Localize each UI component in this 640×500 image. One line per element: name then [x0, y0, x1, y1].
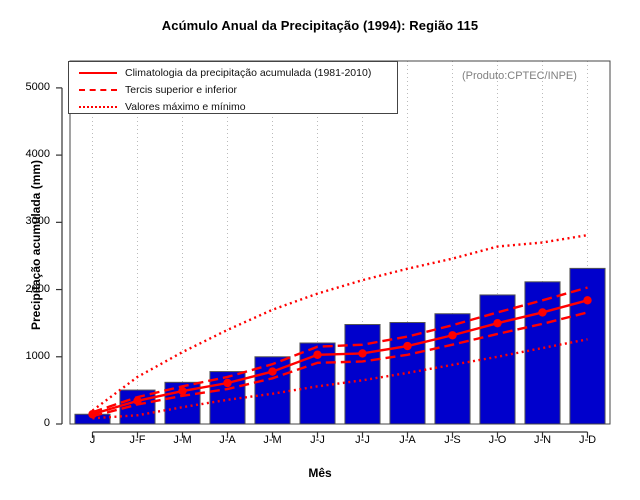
data-point-marker [448, 331, 456, 339]
x-axis-tick-label: J-J [295, 434, 341, 446]
x-axis-tick-label: J-A [205, 434, 251, 446]
x-axis-tick-label: J-D [565, 434, 611, 446]
data-point-marker [223, 379, 231, 387]
y-axis-tick-label: 1000 [6, 350, 50, 362]
data-point-marker [358, 349, 366, 357]
legend-label: Climatologia da precipitação acumulada (… [125, 67, 371, 79]
legend-line-dashed-icon [79, 89, 117, 91]
x-axis-tick-label: J [70, 434, 116, 446]
x-axis-tick-label: J-F [115, 434, 161, 446]
data-point-marker [493, 319, 501, 327]
y-axis-tick-label: 0 [6, 417, 50, 429]
x-axis-tick-label: J-A [385, 434, 431, 446]
chart-container: Acúmulo Anual da Precipitação (1994): Re… [0, 0, 640, 500]
produto-annotation: (Produto:CPTEC/INPE) [462, 70, 577, 82]
x-axis-tick-label: J-M [160, 434, 206, 446]
legend-line-dotted-icon [79, 106, 117, 108]
legend-item-climatologia: Climatologia da precipitação acumulada (… [69, 65, 397, 81]
x-axis-label: Mês [0, 466, 640, 480]
y-axis-label: Precipitação acumulada (mm) [29, 55, 43, 435]
bar [345, 325, 380, 424]
legend-label: Tercis superior e inferior [125, 84, 237, 96]
data-point-marker [538, 308, 546, 316]
bar [390, 322, 425, 424]
y-axis-tick-label: 5000 [6, 81, 50, 93]
y-axis-tick-label: 3000 [6, 215, 50, 227]
legend-label: Valores máximo e mínimo [125, 101, 246, 113]
x-axis-tick-label: J-S [430, 434, 476, 446]
bar [435, 314, 470, 424]
x-axis-tick-label: J-M [250, 434, 296, 446]
x-axis-tick-label: J-J [340, 434, 386, 446]
data-point-marker [403, 342, 411, 350]
legend-item-tercis: Tercis superior e inferior [69, 82, 397, 98]
data-point-marker [313, 351, 321, 359]
x-axis-tick-label: J-O [475, 434, 521, 446]
x-axis-tick-label: J-N [520, 434, 566, 446]
data-point-marker [583, 296, 591, 304]
legend-line-solid-icon [79, 72, 117, 74]
data-point-marker [268, 367, 276, 375]
legend-item-valores: Valores máximo e mínimo [69, 99, 397, 115]
y-axis-tick-label: 4000 [6, 148, 50, 160]
chart-legend: Climatologia da precipitação acumulada (… [68, 61, 398, 114]
y-axis-tick-label: 2000 [6, 283, 50, 295]
